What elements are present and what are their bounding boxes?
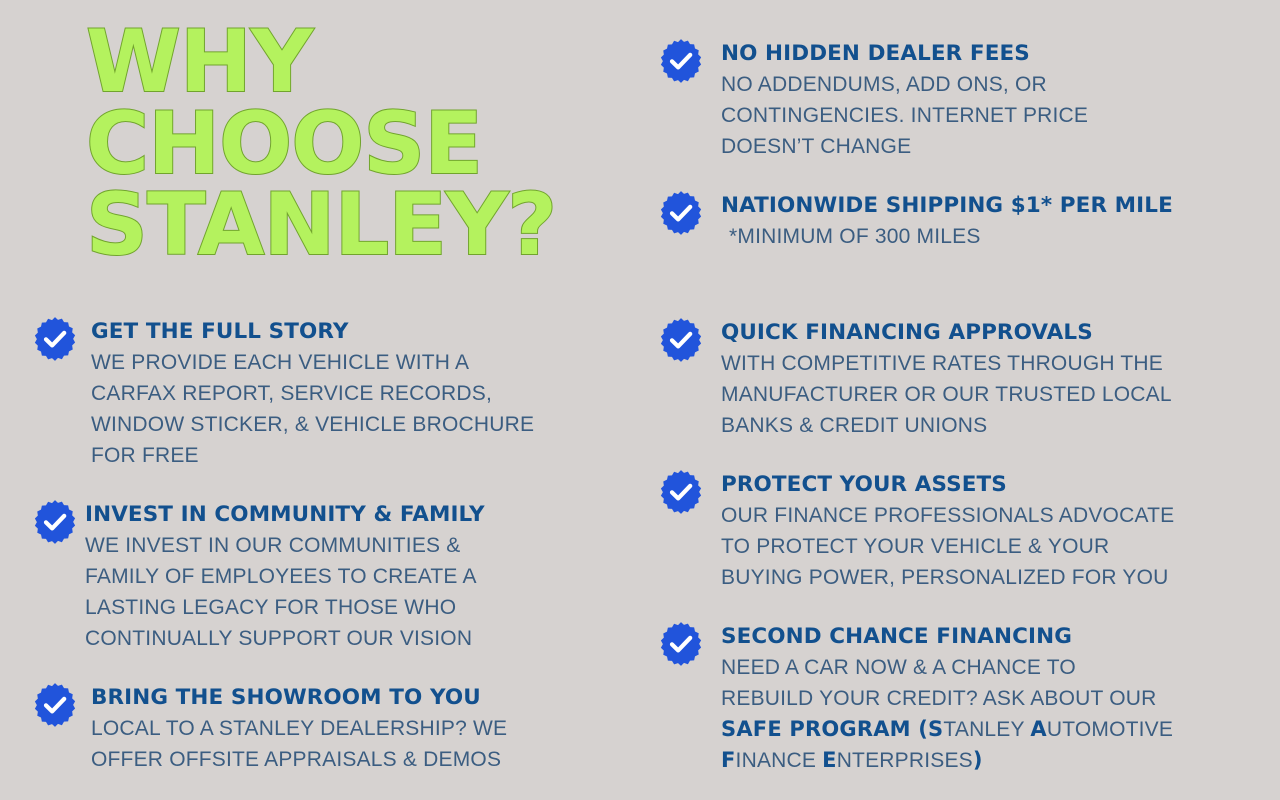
benefit-line: LASTING LEGACY FOR THOSE WHO bbox=[85, 592, 632, 623]
benefit-item-get-the-full-story: GET THE FULL STORY WE PROVIDE EACH VEHIC… bbox=[32, 316, 632, 471]
benefit-content: QUICK FINANCING APPROVALS WITH COMPETITI… bbox=[658, 317, 1270, 441]
benefit-heading: PROTECT YOUR ASSETS bbox=[721, 469, 1270, 500]
acronym-bold: E bbox=[822, 748, 837, 772]
page-title-line-3: STANLEY? bbox=[86, 185, 606, 267]
benefit-line: WITH COMPETITIVE RATES THROUGH THE bbox=[721, 348, 1270, 379]
benefit-heading: QUICK FINANCING APPROVALS bbox=[721, 317, 1270, 348]
check-badge-icon bbox=[32, 682, 78, 728]
benefit-content: NATIONWIDE SHIPPING $1* PER MILE *MINIMU… bbox=[658, 190, 1270, 252]
benefit-heading: NATIONWIDE SHIPPING $1* PER MILE bbox=[721, 190, 1270, 221]
benefit-heading: SECOND CHANCE FINANCING bbox=[721, 621, 1270, 652]
benefit-acronym-line-2: FINANCE ENTERPRISES) bbox=[721, 745, 1270, 776]
benefit-line: TO PROTECT YOUR VEHICLE & YOUR bbox=[721, 531, 1270, 562]
page-title-line-1: WHY bbox=[86, 22, 606, 104]
benefit-line: DOESN’T CHANGE bbox=[721, 131, 1270, 162]
acronym-plain: INANCE bbox=[736, 749, 823, 772]
benefit-line: OUR FINANCE PROFESSIONALS ADVOCATE bbox=[721, 500, 1270, 531]
benefit-item-invest-in-community-and-family: INVEST IN COMMUNITY & FAMILY WE INVEST I… bbox=[32, 499, 632, 654]
benefit-item-bring-the-showroom-to-you: BRING THE SHOWROOM TO YOU LOCAL TO A STA… bbox=[32, 682, 632, 775]
check-badge-icon bbox=[32, 499, 78, 545]
benefit-line: BANKS & CREDIT UNIONS bbox=[721, 410, 1270, 441]
acronym-bold: F bbox=[721, 748, 736, 772]
check-badge-icon bbox=[32, 316, 78, 362]
benefit-item-quick-financing-approvals: QUICK FINANCING APPROVALS WITH COMPETITI… bbox=[658, 317, 1270, 441]
acronym-bold: SAFE PROGRAM (S bbox=[721, 717, 943, 741]
benefit-content: BRING THE SHOWROOM TO YOU LOCAL TO A STA… bbox=[32, 682, 632, 775]
page-title-line-2: CHOOSE bbox=[86, 104, 606, 186]
benefit-line: MANUFACTURER OR OUR TRUSTED LOCAL bbox=[721, 379, 1270, 410]
check-badge-icon bbox=[658, 317, 704, 363]
benefit-item-protect-your-assets: PROTECT YOUR ASSETS OUR FINANCE PROFESSI… bbox=[658, 469, 1270, 593]
benefit-heading: GET THE FULL STORY bbox=[91, 316, 632, 347]
check-badge-icon bbox=[658, 621, 704, 667]
benefit-content: SECOND CHANCE FINANCING NEED A CAR NOW &… bbox=[658, 621, 1270, 776]
benefit-line: LOCAL TO A STANLEY DEALERSHIP? WE bbox=[91, 713, 632, 744]
why-choose-stanley-poster: WHY CHOOSE STANLEY? GET THE FULL STORY W… bbox=[0, 0, 1280, 800]
benefit-line: OFFER OFFSITE APPRAISALS & DEMOS bbox=[91, 744, 632, 775]
acronym-bold: ) bbox=[973, 748, 983, 772]
benefit-line: WE INVEST IN OUR COMMUNITIES & bbox=[85, 530, 632, 561]
benefit-line: CONTINGENCIES. INTERNET PRICE bbox=[721, 100, 1270, 131]
page-title: WHY CHOOSE STANLEY? bbox=[86, 22, 606, 267]
benefit-line: CONTINUALLY SUPPORT OUR VISION bbox=[85, 623, 632, 654]
benefit-line: REBUILD YOUR CREDIT? ASK ABOUT OUR bbox=[721, 683, 1270, 714]
benefit-heading: INVEST IN COMMUNITY & FAMILY bbox=[85, 499, 632, 530]
benefit-content: PROTECT YOUR ASSETS OUR FINANCE PROFESSI… bbox=[658, 469, 1270, 593]
benefit-heading: NO HIDDEN DEALER FEES bbox=[721, 38, 1270, 69]
benefit-item-nationwide-shipping: NATIONWIDE SHIPPING $1* PER MILE *MINIMU… bbox=[658, 190, 1270, 252]
benefit-line: FOR FREE bbox=[91, 440, 632, 471]
benefit-line: NEED A CAR NOW & A CHANCE TO bbox=[721, 652, 1270, 683]
acronym-plain: UTOMOTIVE bbox=[1047, 718, 1173, 741]
benefit-line: NO ADDENDUMS, ADD ONS, OR bbox=[721, 69, 1270, 100]
benefit-content: NO HIDDEN DEALER FEES NO ADDENDUMS, ADD … bbox=[658, 38, 1270, 162]
acronym-plain: NTERPRISES bbox=[837, 749, 973, 772]
acronym-plain: TANLEY bbox=[943, 718, 1030, 741]
check-badge-icon bbox=[658, 38, 704, 84]
benefit-line: BUYING POWER, PERSONALIZED FOR YOU bbox=[721, 562, 1270, 593]
benefit-line: CARFAX REPORT, SERVICE RECORDS, bbox=[91, 378, 632, 409]
benefit-content: GET THE FULL STORY WE PROVIDE EACH VEHIC… bbox=[32, 316, 632, 471]
benefit-content: INVEST IN COMMUNITY & FAMILY WE INVEST I… bbox=[32, 499, 632, 654]
check-badge-icon bbox=[658, 469, 704, 515]
check-badge-icon bbox=[658, 190, 704, 236]
benefit-line: WINDOW STICKER, & VEHICLE BROCHURE bbox=[91, 409, 632, 440]
benefit-item-second-chance-financing: SECOND CHANCE FINANCING NEED A CAR NOW &… bbox=[658, 621, 1270, 776]
benefit-footnote: *MINIMUM OF 300 MILES bbox=[721, 221, 1270, 252]
benefit-heading: BRING THE SHOWROOM TO YOU bbox=[91, 682, 632, 713]
acronym-bold: A bbox=[1030, 717, 1046, 741]
benefit-item-no-hidden-dealer-fees: NO HIDDEN DEALER FEES NO ADDENDUMS, ADD … bbox=[658, 38, 1270, 162]
benefit-line: FAMILY OF EMPLOYEES TO CREATE A bbox=[85, 561, 632, 592]
benefit-line: WE PROVIDE EACH VEHICLE WITH A bbox=[91, 347, 632, 378]
benefit-acronym-line-1: SAFE PROGRAM (STANLEY AUTOMOTIVE bbox=[721, 714, 1270, 745]
